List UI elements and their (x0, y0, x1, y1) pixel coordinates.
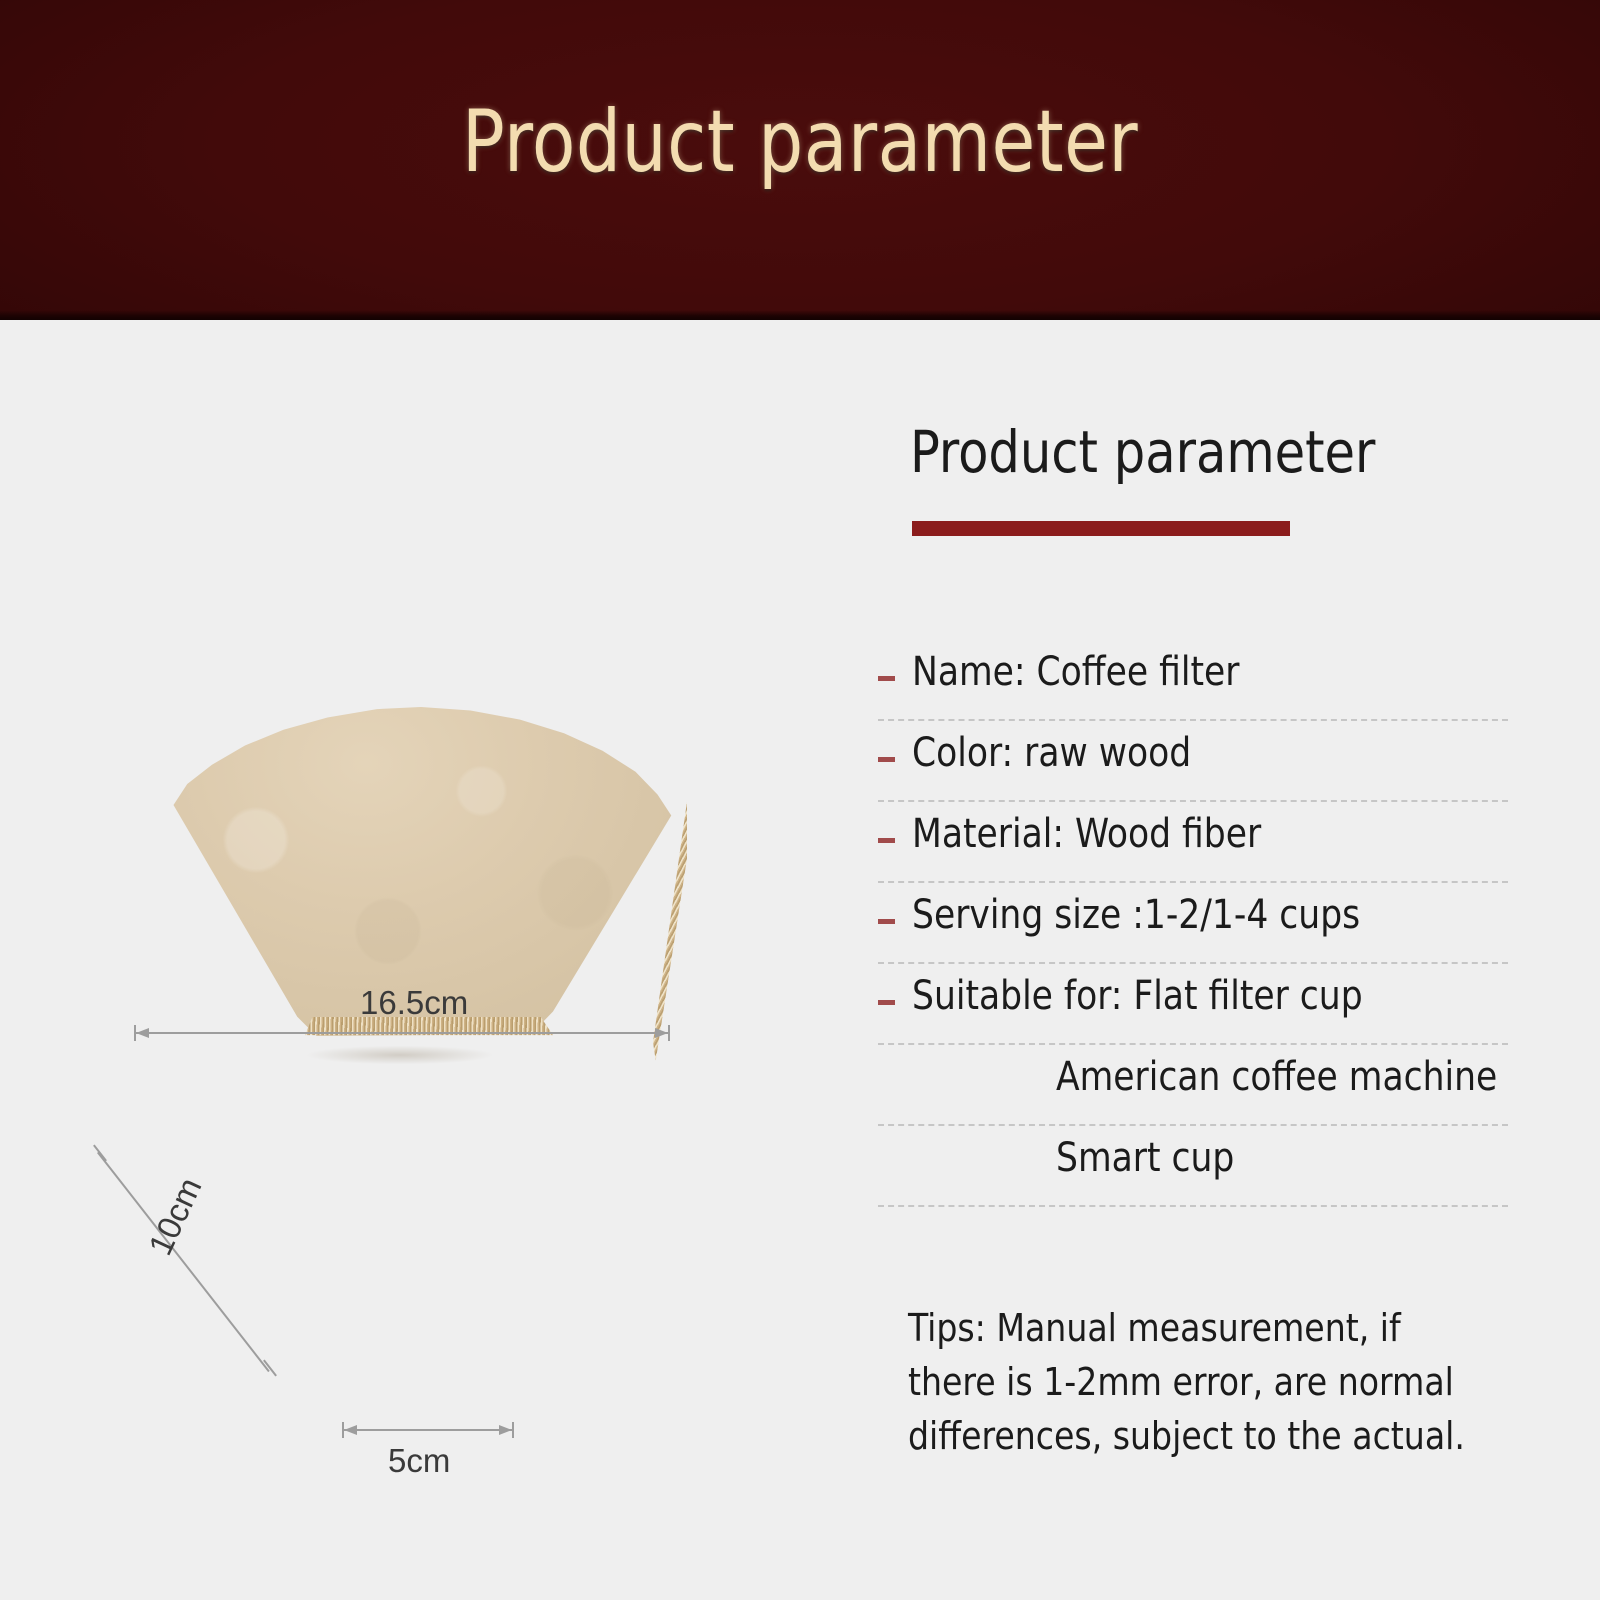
banner-title: Product parameter (64, 92, 1536, 192)
spec-row: Material: Wood fiber (878, 802, 1508, 883)
specification-pane: Product parameter Name: Coffee filter Co… (820, 320, 1600, 1600)
dimension-cap-right (512, 1422, 514, 1438)
spec-item-label: Suitable for: Flat filter cup (912, 973, 1363, 1019)
filter-crimped-edge-right (653, 802, 687, 1061)
dimension-arrow-left-icon (136, 1028, 149, 1038)
spec-row: Name: Coffee filter (878, 640, 1508, 721)
spec-bullet-dash-icon (878, 1000, 895, 1005)
tips-note: Tips: Manual measurement, if there is 1-… (908, 1302, 1508, 1464)
dimension-cap-right (668, 1025, 670, 1041)
spec-heading: Product parameter (910, 418, 1375, 486)
product-image-pane: 16.5cm 10cm 5cm (0, 320, 820, 1600)
spec-bullet-dash-icon (878, 676, 895, 681)
spec-item-label: American coffee machine (1056, 1054, 1497, 1100)
tips-text: Tips: Manual measurement, if there is 1-… (908, 1302, 1490, 1464)
main-content: 16.5cm 10cm 5cm Product parameter Name: … (0, 320, 1600, 1600)
dimension-label-top-width: 16.5cm (360, 984, 468, 1022)
page-header-banner: Product parameter (0, 0, 1600, 320)
spec-row: Color: raw wood (878, 721, 1508, 802)
dimension-line-slant: 10cm (97, 1153, 327, 1418)
spec-row: American coffee machine (878, 1045, 1508, 1126)
spec-item-label: Color: raw wood (912, 730, 1191, 776)
dimension-line-bottom-width (342, 1429, 514, 1431)
spec-row: Suitable for: Flat filter cup (878, 964, 1508, 1045)
spec-bullet-dash-icon (878, 757, 895, 762)
spec-list: Name: Coffee filter Color: raw wood Mate… (878, 640, 1508, 1207)
filter-drop-shadow (270, 1042, 530, 1068)
dimension-arrow-left-icon (344, 1425, 357, 1435)
spec-heading-underline (912, 521, 1290, 536)
spec-item-label: Material: Wood fiber (912, 811, 1261, 857)
dimension-line-top-width (134, 1032, 670, 1034)
coffee-filter-illustration (95, 650, 715, 1170)
spec-row: Serving size :1-2/1-4 cups (878, 883, 1508, 964)
spec-item-label: Serving size :1-2/1-4 cups (912, 892, 1360, 938)
dimension-label-slant: 10cm (141, 1172, 210, 1261)
spec-bullet-dash-icon (878, 838, 895, 843)
dimension-arrow-right-icon (655, 1028, 668, 1038)
dimension-label-bottom-width: 5cm (388, 1442, 450, 1480)
spec-bullet-dash-icon (878, 919, 895, 924)
spec-item-label: Name: Coffee filter (912, 649, 1239, 695)
spec-row: Smart cup (878, 1126, 1508, 1207)
dimension-arrow-right-icon (499, 1425, 512, 1435)
spec-item-label: Smart cup (1056, 1135, 1234, 1181)
